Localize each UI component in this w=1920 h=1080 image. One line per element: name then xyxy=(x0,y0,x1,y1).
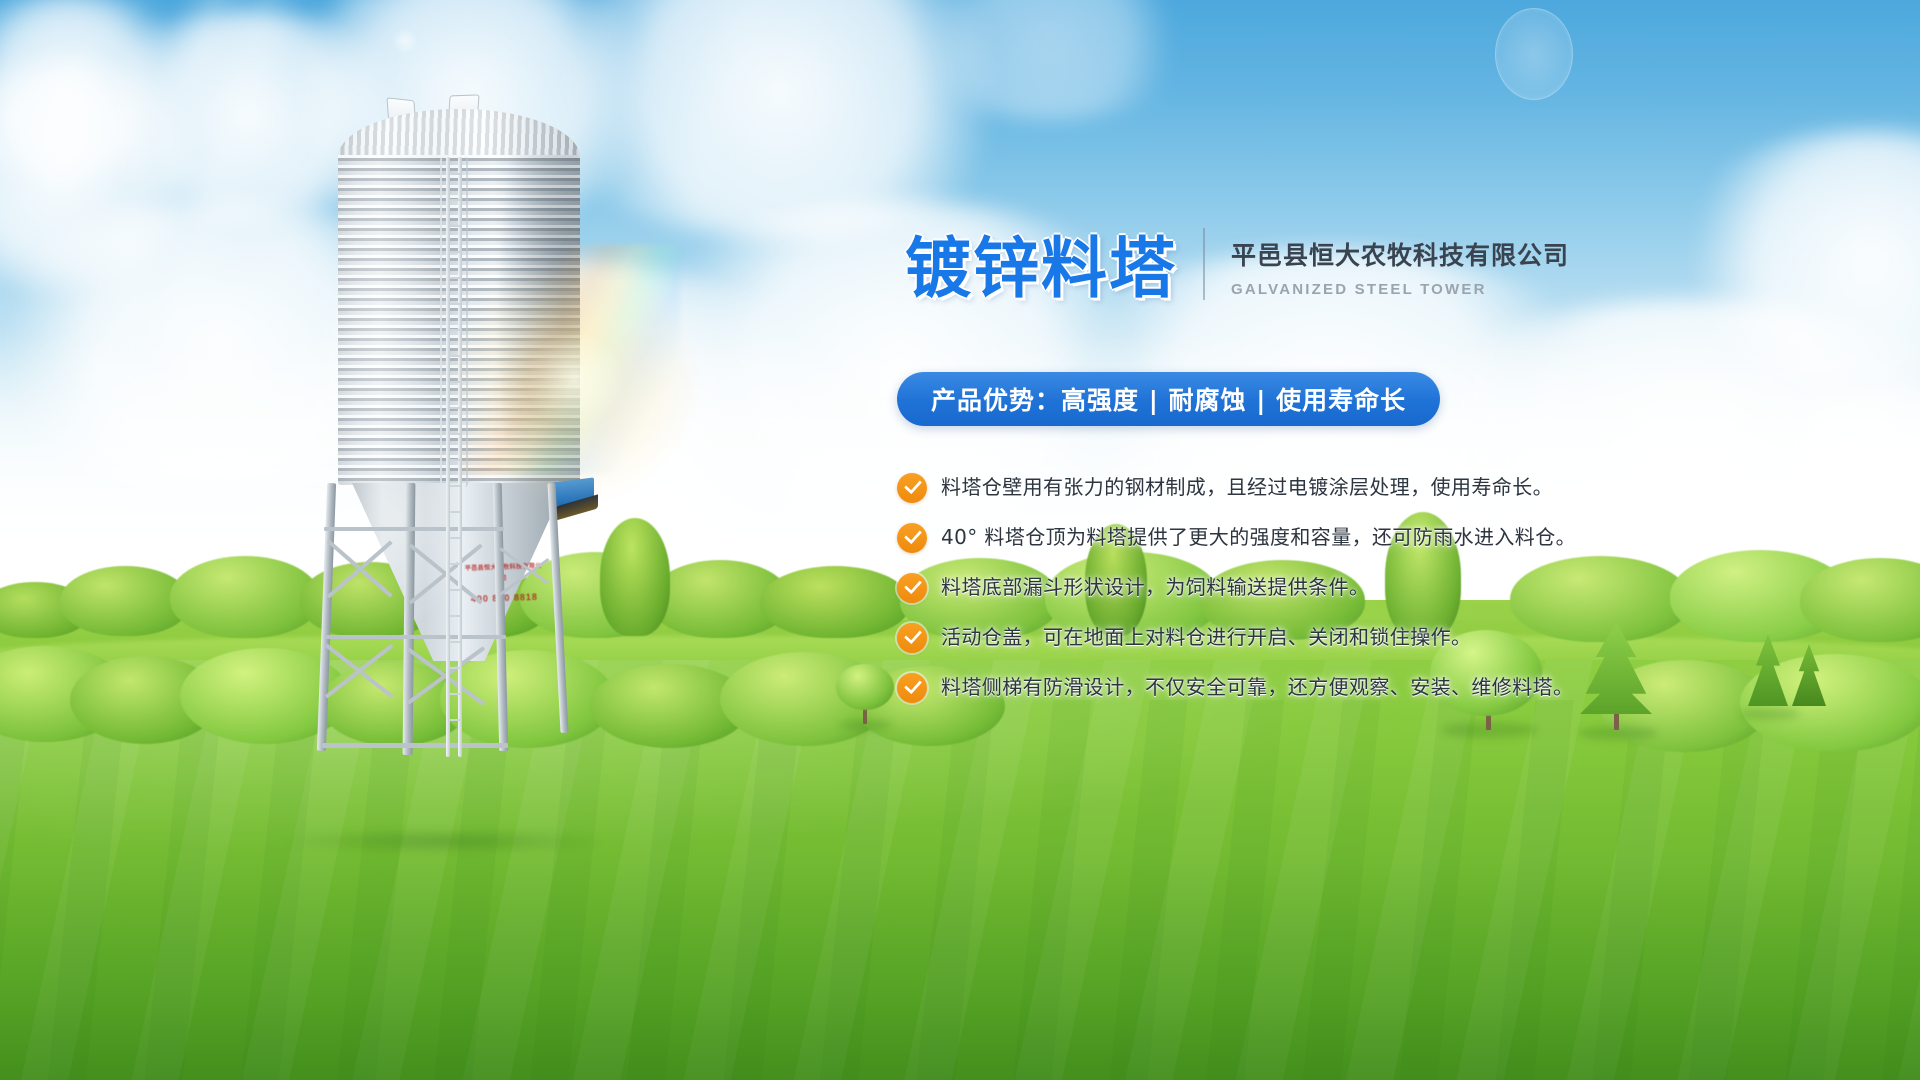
feature-list: 料塔仓壁用有张力的钢材制成，且经过电镀涂层处理，使用寿命长。 40° 料塔仓顶为… xyxy=(897,472,1897,722)
list-item: 料塔底部漏斗形状设计，为饲料输送提供条件。 xyxy=(897,572,1897,603)
check-circle-icon xyxy=(897,623,927,653)
company-name: 平邑县恒大农牧科技有限公司 xyxy=(1231,236,1569,272)
list-item: 料塔仓壁用有张力的钢材制成，且经过电镀涂层处理，使用寿命长。 xyxy=(897,472,1897,503)
silo-ground-shadow xyxy=(284,828,604,854)
list-item: 活动仓盖，可在地面上对料仓进行开启、关闭和锁住操作。 xyxy=(897,622,1897,653)
check-circle-icon xyxy=(897,673,927,703)
feature-text: 40° 料塔仓顶为料塔提供了更大的强度和容量，还可防雨水进入料仓。 xyxy=(941,522,1576,552)
feature-text: 料塔底部漏斗形状设计，为饲料输送提供条件。 xyxy=(941,572,1369,602)
banner-content: 镀锌料塔 平邑县恒大农牧科技有限公司 GALVANIZED STEEL TOWE… xyxy=(905,0,1905,1080)
banner-stage: 平邑县恒大农牧科技有限公司 400 850 8818 xyxy=(0,0,1920,1080)
title-row: 镀锌料塔 平邑县恒大农牧科技有限公司 GALVANIZED STEEL TOWE… xyxy=(905,228,1569,302)
page-title: 镀锌料塔 xyxy=(905,236,1177,302)
title-divider xyxy=(1203,228,1205,300)
advantage-pill: 产品优势：高强度 | 耐腐蚀 | 使用寿命长 xyxy=(897,372,1440,426)
feature-text: 料塔仓壁用有张力的钢材制成，且经过电镀涂层处理，使用寿命长。 xyxy=(941,472,1553,502)
company-subtitle-en: GALVANIZED STEEL TOWER xyxy=(1231,281,1569,298)
company-block: 平邑县恒大农牧科技有限公司 GALVANIZED STEEL TOWER xyxy=(1231,236,1569,302)
silo-leg-4 xyxy=(547,483,568,733)
list-item: 料塔侧梯有防滑设计，不仅安全可靠，还方便观察、安装、维修料塔。 xyxy=(897,672,1897,703)
silo-leg-2 xyxy=(403,483,416,755)
check-circle-icon xyxy=(897,573,927,603)
list-item: 40° 料塔仓顶为料塔提供了更大的强度和容量，还可防雨水进入料仓。 xyxy=(897,522,1897,553)
feature-text: 活动仓盖，可在地面上对料仓进行开启、关闭和锁住操作。 xyxy=(941,622,1471,652)
silo-leg-1 xyxy=(317,483,336,751)
advantage-pill-label: 产品优势：高强度 | 耐腐蚀 | 使用寿命长 xyxy=(931,381,1406,417)
feed-silo-image: 平邑县恒大农牧科技有限公司 400 850 8818 xyxy=(300,95,620,755)
check-circle-icon xyxy=(897,473,927,503)
silo-ladder xyxy=(446,157,462,757)
feature-text: 料塔侧梯有防滑设计，不仅安全可靠，还方便观察、安装、维修料塔。 xyxy=(941,672,1573,702)
check-circle-icon xyxy=(897,523,927,553)
